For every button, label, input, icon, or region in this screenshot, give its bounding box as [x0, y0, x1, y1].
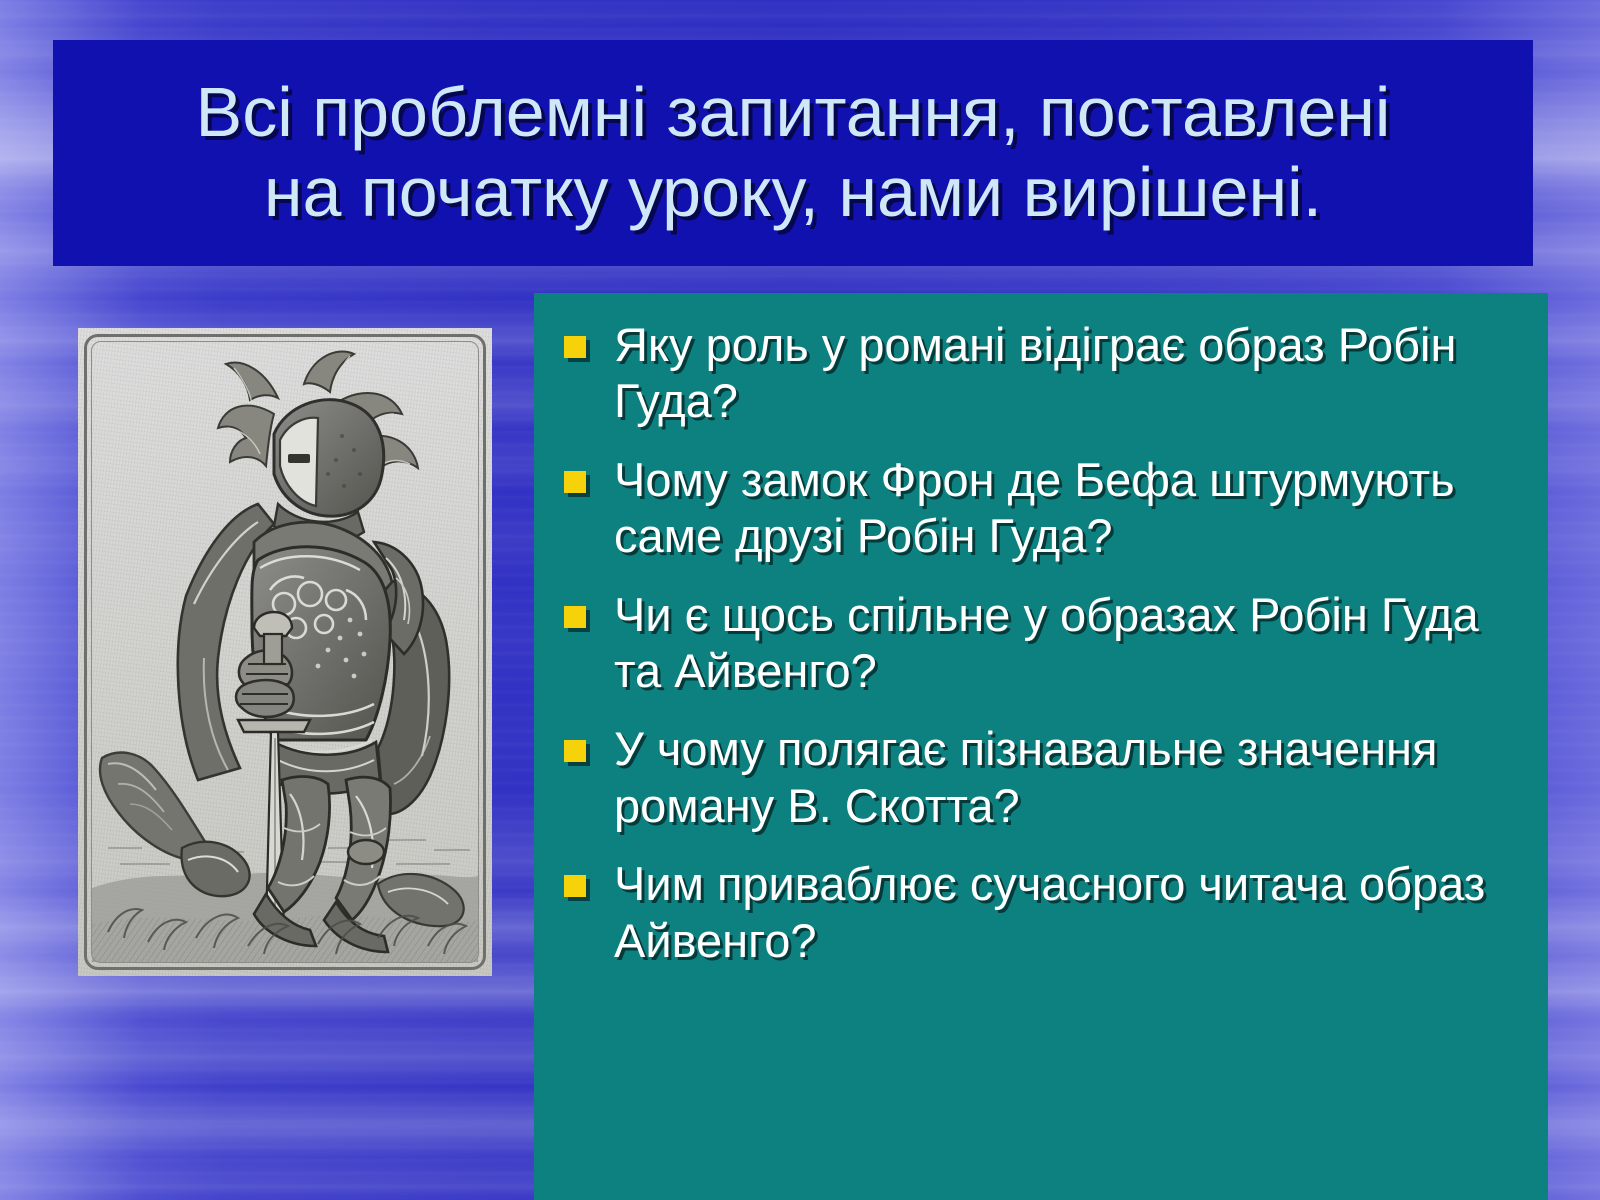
list-item-text: Чому замок Фрон де Бефа штурмують саме д…: [614, 453, 1455, 562]
list-item: Чи є щось спільне у образах Робін Гуда т…: [548, 587, 1522, 700]
questions-list: Яку роль у романі відіграє образ Робін Г…: [548, 317, 1522, 969]
list-item-text: Чи є щось спільне у образах Робін Гуда т…: [614, 588, 1479, 697]
list-item: У чому полягає пізнавальне значення рома…: [548, 721, 1522, 834]
list-item: Чому замок Фрон де Бефа штурмують саме д…: [548, 452, 1522, 565]
list-item: Яку роль у романі відіграє образ Робін Г…: [548, 317, 1522, 430]
bullet-square-icon: [564, 336, 586, 358]
bullet-square-icon: [564, 740, 586, 762]
knight-woodcut-image: [78, 328, 492, 976]
list-item-text: Яку роль у романі відіграє образ Робін Г…: [614, 318, 1456, 427]
engraving-frame-border: [84, 334, 486, 970]
list-item-text: Чим приваблює сучасного читача образ Айв…: [614, 857, 1485, 966]
list-item-text: У чому полягає пізнавальне значення рома…: [614, 722, 1437, 831]
list-item: Чим приваблює сучасного читача образ Айв…: [548, 856, 1522, 969]
bullet-square-icon: [564, 875, 586, 897]
bullet-square-icon: [564, 471, 586, 493]
slide-title-box: Всі проблемні запитання, поставлені на п…: [53, 40, 1533, 266]
slide-title-text: Всі проблемні запитання, поставлені на п…: [196, 73, 1391, 233]
bullet-square-icon: [564, 606, 586, 628]
presentation-slide: Всі проблемні запитання, поставлені на п…: [0, 0, 1600, 1200]
questions-content-box: Яку роль у романі відіграє образ Робін Г…: [534, 293, 1548, 1200]
